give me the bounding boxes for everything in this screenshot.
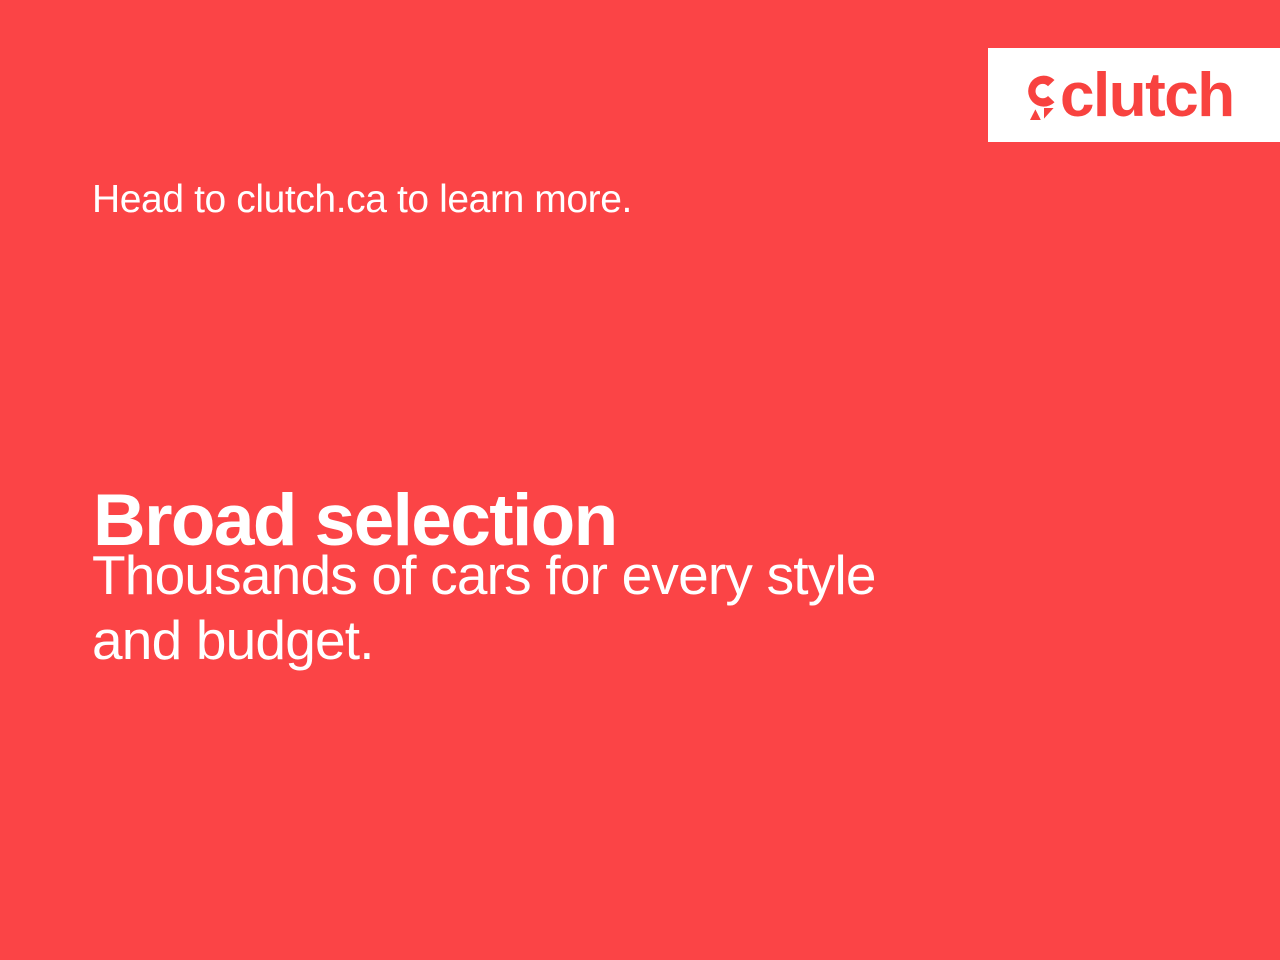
brand-logo-plate[interactable]: clutch: [988, 48, 1280, 142]
clutch-c-mark-icon: [1018, 69, 1058, 121]
subheadline-line-1: Thousands of cars for every style: [92, 543, 1052, 608]
subheadline-line-2: and budget.: [92, 608, 1052, 673]
slide-canvas: clutch Head to clutch.ca to learn more. …: [0, 0, 1280, 960]
subheadline-block: Thousands of cars for every style and bu…: [92, 543, 1052, 673]
clutch-wordmark: clutch: [1060, 71, 1234, 122]
eyebrow-text: Head to clutch.ca to learn more.: [92, 178, 632, 222]
clutch-logo-lockup: clutch: [1018, 69, 1234, 122]
